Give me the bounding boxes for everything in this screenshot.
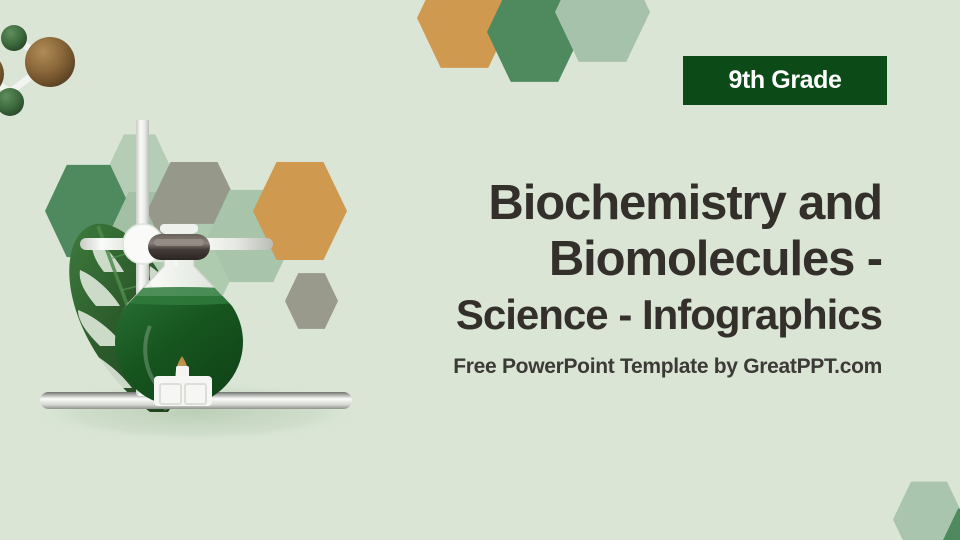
title-block: Biochemistry and Biomolecules - Science … (362, 176, 882, 379)
grade-badge-label: 9th Grade (728, 68, 841, 93)
slide-canvas: 9th Grade Biochemistry and Biomolecules … (0, 0, 960, 540)
page-title-line-2: Biomolecules - (362, 232, 882, 288)
page-subtitle: Free PowerPoint Template by GreatPPT.com (362, 355, 882, 379)
chemistry-lab-illustration (0, 120, 400, 440)
flask-clamp-graphic (148, 234, 210, 260)
grade-badge: 9th Grade (683, 56, 887, 105)
page-title-line-3: Science - Infographics (362, 288, 882, 342)
page-title-line-1: Biochemistry and (362, 176, 882, 232)
molecule-graphic (0, 0, 118, 128)
